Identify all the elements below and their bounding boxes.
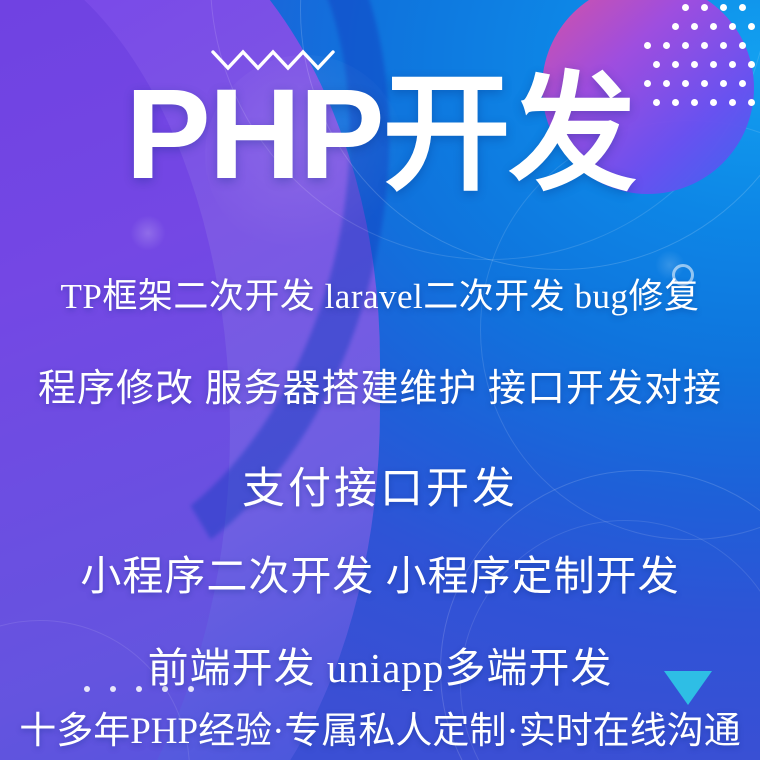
dot-icon [701,42,708,49]
dot-icon [691,23,698,30]
dot-icon [748,61,755,68]
dot-icon [729,61,736,68]
dot-icon [701,4,708,11]
service-row-frontend: 前端开发 uniapp多端开发 [0,634,760,694]
service-row-frameworks: TP框架二次开发 laravel二次开发 bug修复 [0,268,760,319]
dot-icon [710,61,717,68]
dot-icon [748,23,755,30]
dot-icon [720,4,727,11]
service-list: TP框架二次开发 laravel二次开发 bug修复 程序修改 服务器搭建维护 … [0,268,760,694]
dot-icon [710,23,717,30]
dot-icon [672,61,679,68]
dot-icon [720,42,727,49]
dot-icon [653,61,660,68]
poster-headline: PHP开发 [0,68,760,202]
service-row-maintenance: 程序修改 服务器搭建维护 接口开发对接 [0,357,760,412]
dot-icon [739,42,746,49]
dot-icon [672,23,679,30]
dot-icon [691,61,698,68]
dot-icon [644,42,651,49]
poster-footer-tagline: 十多年PHP经验·专属私人定制·实时在线沟通 [0,700,760,754]
php-development-promo-poster: PHP开发 TP框架二次开发 laravel二次开发 bug修复 程序修改 服务… [0,0,760,760]
service-row-miniprogram: 小程序二次开发 小程序定制开发 [0,542,760,602]
dot-icon [729,23,736,30]
dot-icon [663,42,670,49]
dot-icon [682,4,689,11]
dot-icon [682,42,689,49]
glow-dot-left [130,215,166,251]
service-row-payment: 支付接口开发 [0,454,760,516]
dot-icon [739,4,746,11]
